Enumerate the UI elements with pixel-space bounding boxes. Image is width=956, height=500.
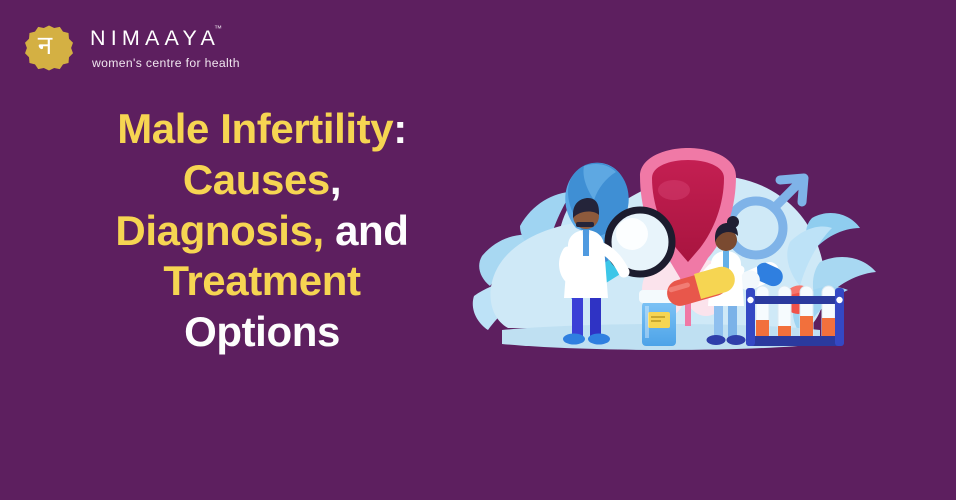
headline-line-2-plain: , <box>330 156 341 203</box>
nimaaya-logo[interactable]: न NIMAAYA ™ women's centre for health <box>18 20 248 82</box>
logo-devanagari-glyph: न <box>18 20 72 74</box>
logo-trademark-symbol: ™ <box>214 24 222 33</box>
headline-line-3-plain: and <box>324 207 409 254</box>
promotional-banner: न NIMAAYA ™ women's centre for health Ma… <box>0 0 956 500</box>
logo-wordmark: NIMAAYA <box>90 26 220 51</box>
headline-line-3: Diagnosis, and <box>52 206 472 257</box>
headline-line-5-plain: Options <box>184 308 340 355</box>
headline-line-1-plain: : <box>393 105 407 152</box>
headline-line-1: Male Infertility: <box>52 104 472 155</box>
page-title: Male Infertility: Causes, Diagnosis, and… <box>52 104 472 358</box>
headline-line-1-accent: Male Infertility <box>117 105 393 152</box>
headline-line-3-accent: Diagnosis, <box>115 207 323 254</box>
logo-tagline: women's centre for health <box>92 56 240 70</box>
headline-line-2-accent: Causes <box>183 156 330 203</box>
male-infertility-illustration <box>468 130 888 370</box>
headline-line-2: Causes, <box>52 155 472 206</box>
headline-line-4: Treatment <box>52 256 472 307</box>
headline-line-5: Options <box>52 307 472 358</box>
headline-line-4-accent: Treatment <box>163 257 360 304</box>
